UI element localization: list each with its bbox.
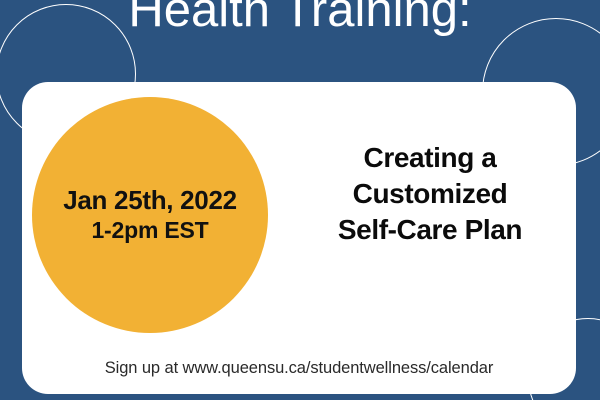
session-title-line-2: Customized	[294, 176, 566, 212]
event-date-text: Jan 25th, 2022	[63, 187, 237, 214]
content-card: Jan 25th, 2022 1-2pm EST Creating a Cust…	[22, 82, 576, 394]
session-title-line-3: Self-Care Plan	[294, 212, 566, 248]
banner-title: Health Training:	[0, 0, 600, 35]
event-time-text: 1-2pm EST	[91, 217, 208, 243]
session-title-line-1: Creating a	[294, 140, 566, 176]
signup-url-text: Sign up at www.queensu.ca/studentwellnes…	[22, 359, 576, 378]
poster-canvas: Health Training: Jan 25th, 2022 1-2pm ES…	[0, 0, 600, 400]
session-title: Creating a Customized Self-Care Plan	[294, 140, 566, 247]
date-badge-circle: Jan 25th, 2022 1-2pm EST	[32, 97, 268, 333]
